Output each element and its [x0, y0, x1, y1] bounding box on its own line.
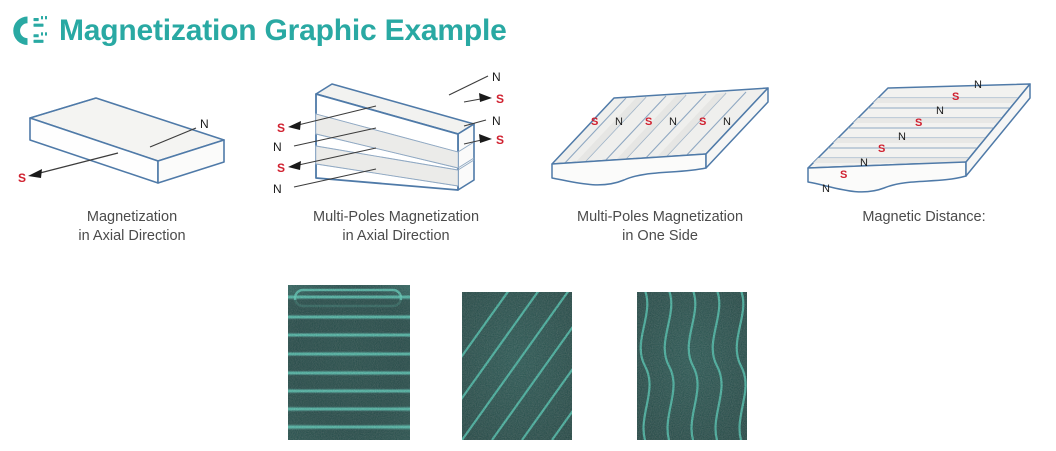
pole-label-north: N — [974, 79, 982, 91]
page-title: Magnetization Graphic Example — [59, 16, 507, 46]
magnetic-film-photo-horizontal-stripes — [288, 285, 410, 440]
pole-label-north: N — [200, 117, 209, 131]
caption-magnetic-distance: Magnetic Distance: — [792, 208, 1056, 227]
diagonal-line-film-image — [462, 292, 572, 440]
horseshoe-magnet-icon — [13, 14, 49, 48]
pole-label-south: S — [591, 116, 598, 128]
pole-label-south: S — [277, 161, 285, 175]
horizontal-stripe-film-image — [288, 285, 410, 440]
pole-label-south: S — [277, 121, 285, 135]
pole-label-north: N — [273, 182, 282, 196]
caption-line: Magnetic Distance: — [792, 208, 1056, 227]
caption-multipoles-axial: Multi-Poles Magnetization in Axial Direc… — [264, 208, 528, 246]
caption-line: in Axial Direction — [264, 227, 528, 246]
magnetic-film-photo-row — [0, 284, 1056, 442]
pole-label-south: S — [915, 117, 922, 129]
pole-label-north: N — [860, 157, 868, 169]
pole-label-north: N — [273, 140, 282, 154]
caption-magnetization-axial: Magnetization in Axial Direction — [0, 208, 264, 246]
magnetic-film-photo-diagonal-lines — [462, 292, 572, 440]
wavy-line-film-image — [637, 292, 747, 440]
caption-multipoles-one-side: Multi-Poles Magnetization in One Side — [528, 208, 792, 246]
pole-label-south: S — [952, 91, 959, 103]
caption-line: in One Side — [528, 227, 792, 246]
page-header: Magnetization Graphic Example — [0, 0, 1056, 62]
pole-label-south: S — [645, 116, 652, 128]
caption-line: Multi-Poles Magnetization — [264, 208, 528, 227]
pole-label-north: N — [669, 116, 677, 128]
pole-label-north: N — [898, 131, 906, 143]
pole-label-north: N — [615, 116, 623, 128]
caption-line: Multi-Poles Magnetization — [528, 208, 792, 227]
pole-label-north: N — [723, 116, 731, 128]
pole-label-north: N — [822, 183, 830, 195]
caption-line: in Axial Direction — [0, 227, 264, 246]
pole-label-north: N — [492, 114, 501, 128]
pole-label-south: S — [699, 116, 706, 128]
pole-label-south: S — [496, 92, 504, 106]
pole-label-south: S — [496, 133, 504, 147]
pole-label-south: S — [878, 143, 885, 155]
pole-label-north: N — [936, 105, 944, 117]
magnetic-film-photo-wavy-lines — [637, 292, 747, 440]
pole-label-south: S — [18, 171, 26, 185]
pole-label-south: S — [840, 169, 847, 181]
caption-row: Magnetization in Axial Direction Multi-P… — [0, 208, 1056, 256]
caption-line: Magnetization — [0, 208, 264, 227]
pole-label-north: N — [492, 70, 501, 84]
